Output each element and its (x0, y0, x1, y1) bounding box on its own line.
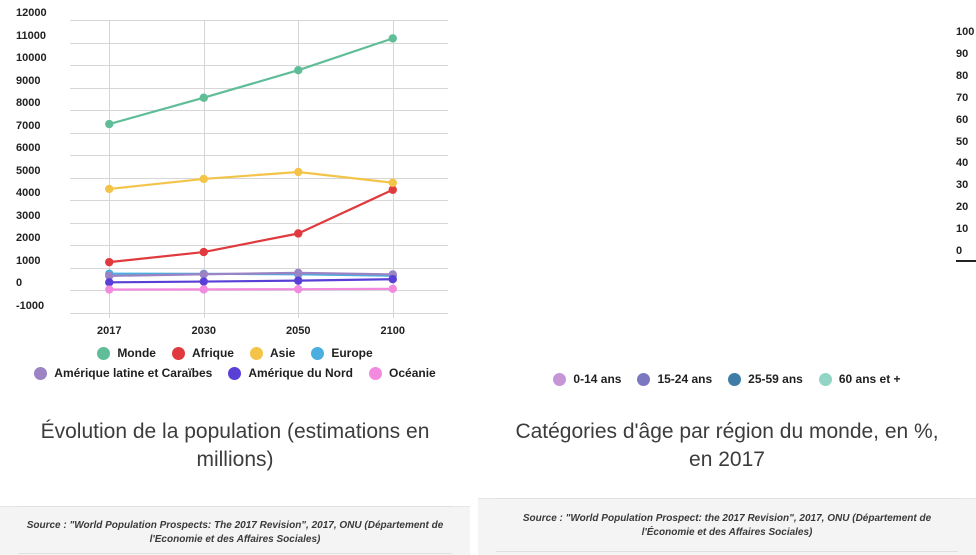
legend-swatch-icon (369, 367, 382, 380)
y-axis-tick-label: 90 (956, 49, 968, 60)
line-series-point[interactable] (294, 66, 302, 74)
right-source-text: Source : "World Population Prospect: the… (496, 512, 958, 539)
bar-chart-legend-item[interactable]: 25-59 ans (728, 372, 803, 386)
bar-chart-baseline (956, 260, 976, 262)
right-divider-top (496, 498, 958, 499)
line-chart-series-layer (0, 0, 470, 338)
left-source-wrap: Source : "World Population Prospects: Th… (0, 519, 470, 546)
left-chart-panel: -100001000200030004000500060007000800090… (0, 0, 470, 555)
line-series-point[interactable] (105, 278, 113, 286)
dual-chart-page: -100001000200030004000500060007000800090… (0, 0, 976, 555)
line-series-point[interactable] (294, 168, 302, 176)
legend-item-label: Afrique (192, 346, 234, 360)
population-line-chart: -100001000200030004000500060007000800090… (0, 0, 470, 338)
legend-item-label: Europe (331, 346, 372, 360)
y-axis-tick-label: 80 (956, 71, 968, 82)
legend-item-label: Océanie (389, 366, 436, 380)
line-series-point[interactable] (389, 34, 397, 42)
line-series-point[interactable] (389, 285, 397, 293)
legend-swatch-icon (637, 373, 650, 386)
legend-swatch-icon (819, 373, 832, 386)
right-source-wrap: Source : "World Population Prospect: the… (478, 512, 976, 539)
legend-item-label: 60 ans et + (839, 372, 901, 386)
y-axis-tick-label: 30 (956, 180, 968, 191)
line-series-point[interactable] (200, 277, 208, 285)
line-chart-legend-item[interactable]: Europe (311, 346, 372, 360)
left-source-text: Source : "World Population Prospects: Th… (18, 519, 452, 546)
panel-separator (470, 0, 478, 555)
legend-swatch-icon (728, 373, 741, 386)
bar-chart-legend: 0-14 ans15-24 ans25-59 ans60 ans et + (478, 372, 976, 392)
line-series-point[interactable] (294, 285, 302, 293)
line-chart-legend-item[interactable]: Asie (250, 346, 295, 360)
legend-swatch-icon (34, 367, 47, 380)
line-series-point[interactable] (389, 179, 397, 187)
right-divider-bottom (496, 551, 958, 552)
line-chart-legend-item[interactable]: Océanie (369, 366, 436, 380)
legend-swatch-icon (228, 367, 241, 380)
line-series-point[interactable] (200, 248, 208, 256)
legend-swatch-icon (553, 373, 566, 386)
line-series-point[interactable] (389, 275, 397, 283)
y-axis-tick-label: 10 (956, 224, 968, 235)
legend-item-label: Monde (117, 346, 156, 360)
line-series-path (109, 172, 393, 189)
line-series-path (109, 279, 393, 282)
line-series-point[interactable] (105, 120, 113, 128)
line-series-point[interactable] (294, 229, 302, 237)
y-axis-tick-label: 70 (956, 93, 968, 104)
line-series-point[interactable] (294, 269, 302, 277)
legend-swatch-icon (250, 347, 263, 360)
line-series-path (109, 38, 393, 124)
legend-item-label: 25-59 ans (748, 372, 803, 386)
line-series-point[interactable] (200, 285, 208, 293)
line-series-point[interactable] (200, 175, 208, 183)
line-series-path (109, 190, 393, 262)
bar-chart-legend-item[interactable]: 60 ans et + (819, 372, 901, 386)
y-axis-tick-label: 50 (956, 137, 968, 148)
y-axis-tick-label: 20 (956, 202, 968, 213)
age-category-bar-chart: 0102030405060708090100 MondeAfriqueAsieE… (478, 0, 976, 368)
legend-item-label: Amérique latine et Caraïbes (54, 366, 212, 380)
line-chart-legend-item[interactable]: Amérique latine et Caraïbes (34, 366, 212, 380)
bar-chart-legend-item[interactable]: 0-14 ans (553, 372, 621, 386)
line-series-point[interactable] (105, 258, 113, 266)
legend-swatch-icon (311, 347, 324, 360)
right-chart-title: Catégories d'âge par région du monde, en… (478, 418, 976, 475)
right-chart-panel: 0102030405060708090100 MondeAfriqueAsieE… (478, 0, 976, 555)
bar-chart-legend-item[interactable]: 15-24 ans (637, 372, 712, 386)
legend-item-label: 15-24 ans (657, 372, 712, 386)
y-axis-tick-label: 0 (956, 246, 962, 257)
y-axis-tick-label: 100 (956, 27, 974, 38)
line-series-path (109, 289, 393, 290)
left-divider-bottom (18, 553, 452, 554)
left-chart-title: Évolution de la population (estimations … (0, 418, 470, 475)
line-chart-legend-item[interactable]: Afrique (172, 346, 234, 360)
line-chart-legend-item[interactable]: Monde (97, 346, 156, 360)
line-series-point[interactable] (105, 185, 113, 193)
legend-item-label: 0-14 ans (573, 372, 621, 386)
legend-item-label: Asie (270, 346, 295, 360)
legend-item-label: Amérique du Nord (248, 366, 353, 380)
line-series-point[interactable] (200, 94, 208, 102)
legend-swatch-icon (172, 347, 185, 360)
left-divider-top (18, 506, 452, 507)
line-chart-legend-item[interactable]: Amérique du Nord (228, 366, 353, 380)
line-series-point[interactable] (105, 285, 113, 293)
line-series-point[interactable] (294, 276, 302, 284)
line-series-point[interactable] (200, 270, 208, 278)
legend-swatch-icon (97, 347, 110, 360)
y-axis-tick-label: 60 (956, 115, 968, 126)
y-axis-tick-label: 40 (956, 158, 968, 169)
line-chart-legend: MondeAfriqueAsieEuropeAmérique latine et… (0, 346, 470, 386)
